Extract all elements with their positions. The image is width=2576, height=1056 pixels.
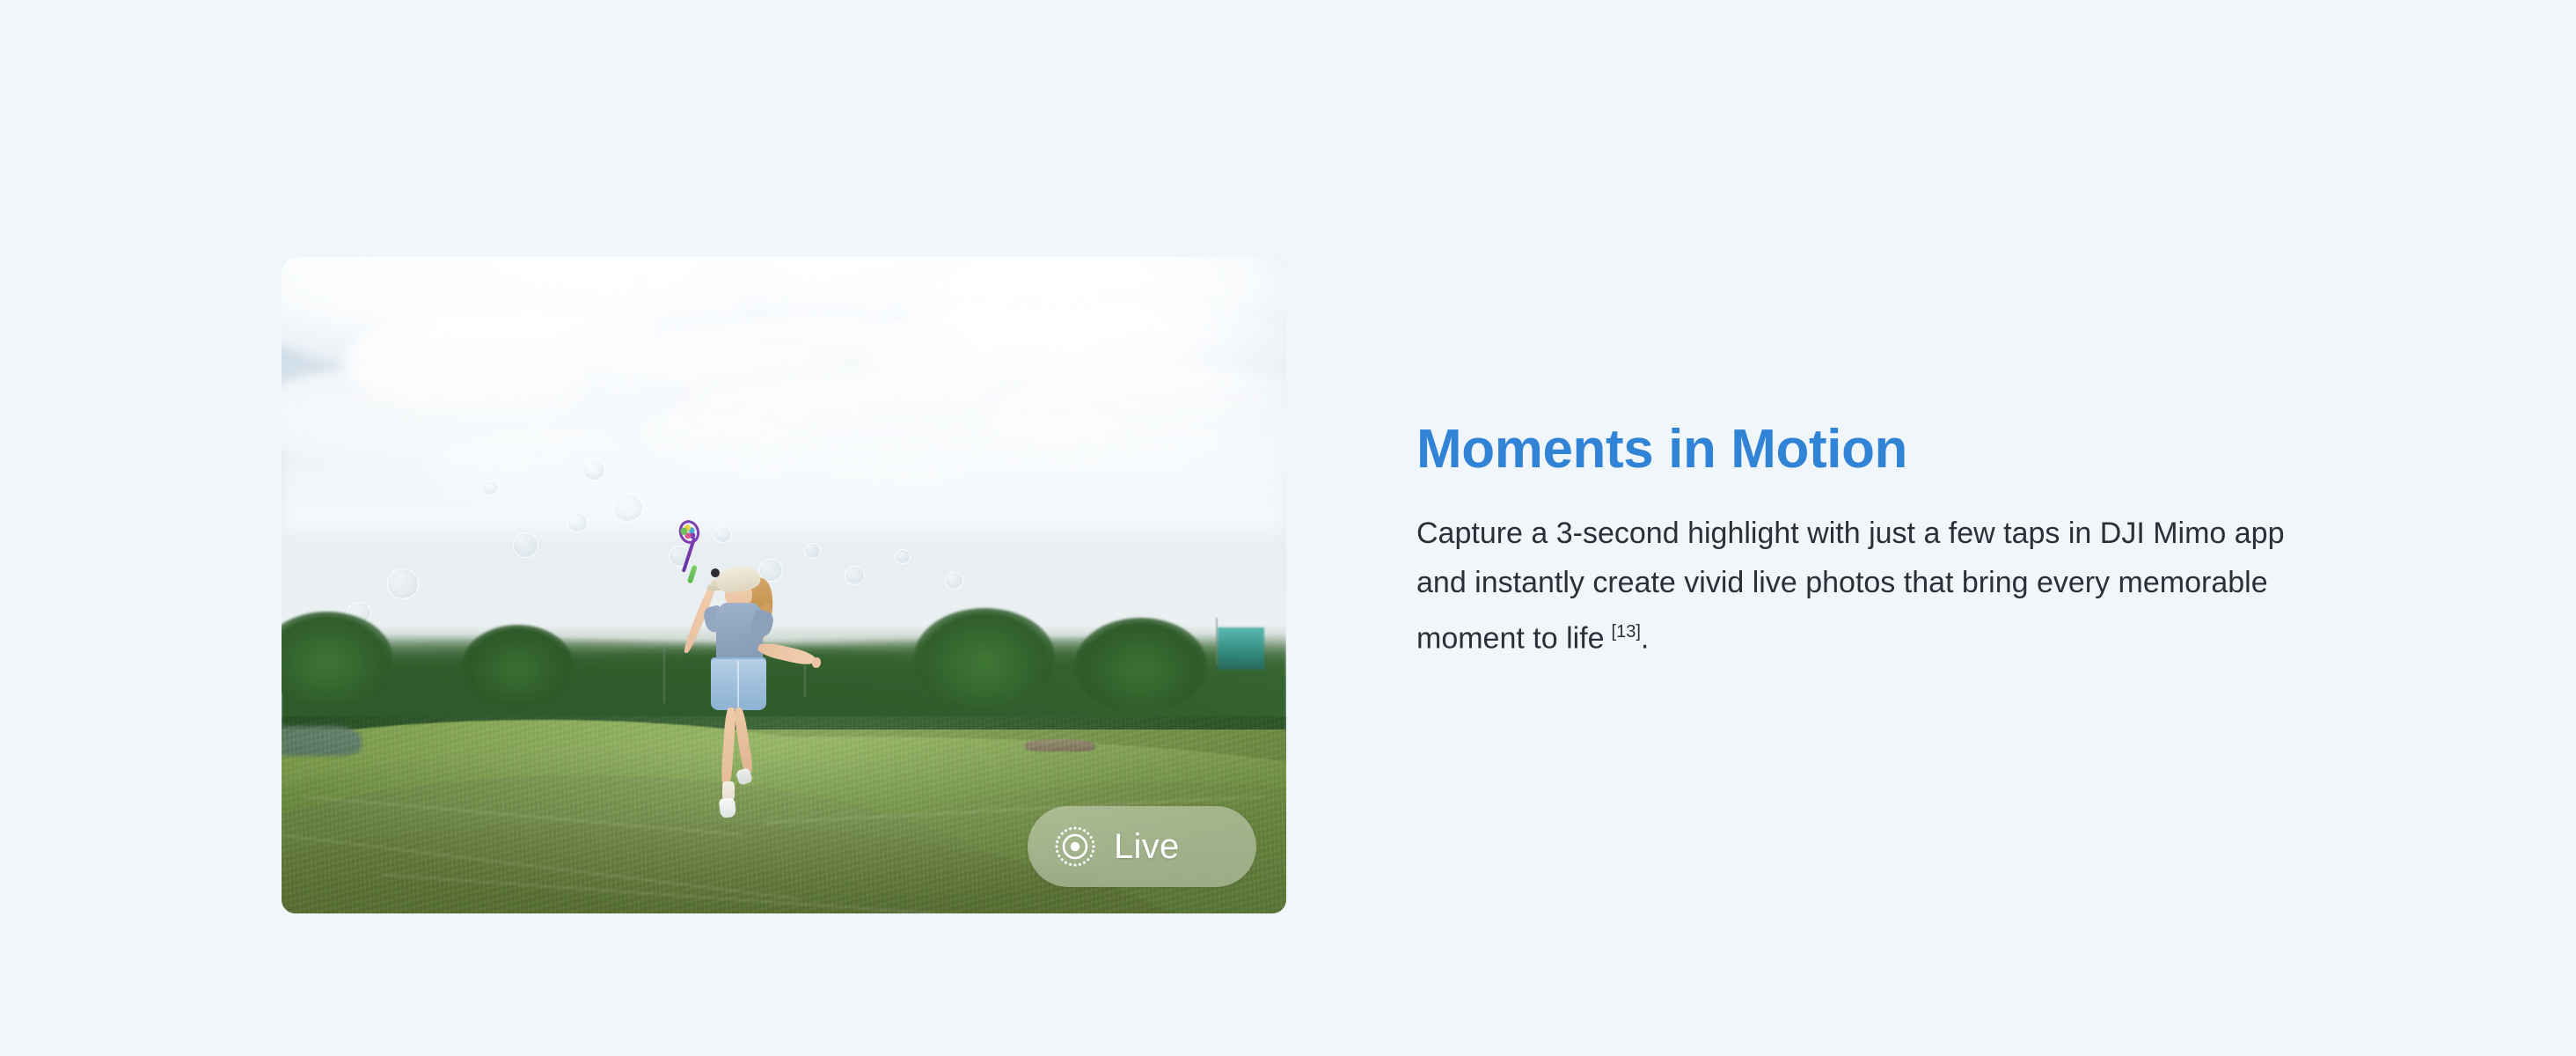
live-photo-icon [1050, 822, 1100, 871]
hand [811, 656, 822, 669]
live-photo-badge[interactable]: Live [1028, 806, 1256, 887]
bubble-wand-grip [687, 565, 698, 583]
sentence-period: . [1641, 621, 1649, 655]
distant-structure [1218, 627, 1264, 670]
soap-bubble [613, 494, 643, 522]
soap-bubble [482, 480, 498, 495]
soap-bubble [387, 568, 420, 598]
soap-bubble [895, 549, 911, 564]
feature-section: Live Moments in Motion Capture a 3-secon… [0, 0, 2576, 1056]
soap-bubble [583, 460, 605, 480]
feature-image-card: Live [282, 257, 1286, 913]
skirt-seam [737, 661, 739, 709]
soap-bubble [567, 513, 588, 532]
sky-haze [282, 383, 1286, 534]
scene-photo: Live [282, 257, 1286, 913]
tree [914, 608, 1055, 707]
feature-description-text: Capture a 3-second highlight with just a… [1416, 517, 2285, 655]
girl-figure [658, 526, 829, 828]
utility-pole [1216, 618, 1218, 664]
tree [1075, 618, 1205, 709]
leg-left [721, 707, 736, 786]
feature-headline: Moments in Motion [1416, 421, 2305, 479]
feature-description: Capture a 3-second highlight with just a… [1416, 509, 2305, 663]
citation-marker[interactable]: [13] [1612, 622, 1641, 642]
feature-copy: Moments in Motion Capture a 3-second hig… [1416, 421, 2305, 663]
shoe-left [719, 797, 737, 818]
soap-bubble [513, 532, 539, 557]
tree [463, 625, 574, 704]
live-badge-label: Live [1114, 829, 1180, 864]
leg-right [734, 707, 754, 774]
